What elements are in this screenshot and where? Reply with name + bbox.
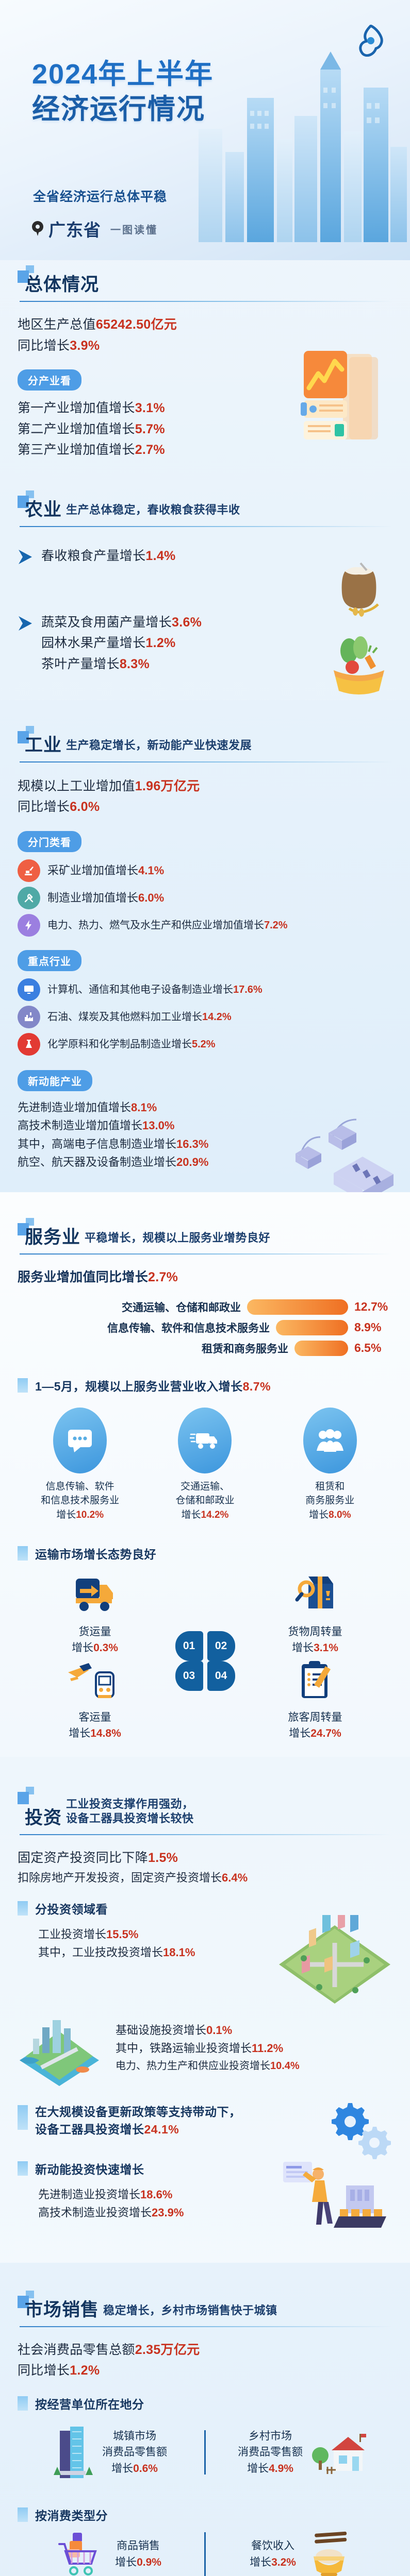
industry-1-value: 3.1% xyxy=(135,401,165,415)
new-energy-1-label: 先进制造业增加值增长 xyxy=(18,1101,131,1114)
agri-line-4: 茶叶产量增长8.3% xyxy=(41,654,202,675)
industry-header: 工业 生产稳定增长，新动能产业快速发展 xyxy=(18,736,392,762)
retail-type-goods: 商品销售 增长0.9% xyxy=(18,2529,198,2576)
retail-catering-text: 餐饮收入 增长3.2% xyxy=(250,2538,296,2570)
city-block-illustration xyxy=(273,1915,397,2015)
vegetable-basket-icon xyxy=(325,628,392,698)
investment-field-4: 其中，铁路运输业投资增长11.2% xyxy=(116,2039,392,2058)
transport-2-label: 货物周转量 增长3.1% xyxy=(238,1624,392,1656)
industry-cat-3-text: 电力、热力、燃气及水生产和供应业增加值增长7.2% xyxy=(47,917,288,934)
square-marker-icon xyxy=(18,1546,28,1561)
services-section: 服务业 平稳增长，规模以上服务业增势良好 服务业增加值同比增长2.7% 交通运输… xyxy=(0,1192,410,1757)
vertical-divider xyxy=(204,2532,206,2576)
retail-urban-sub: 消费品零售额 xyxy=(102,2446,167,2458)
chat-bubble-icon xyxy=(53,1408,107,1473)
parcel-icon xyxy=(287,1571,343,1619)
gdp-growth-label: 同比增长 xyxy=(18,338,70,353)
transport-4-value: 24.7% xyxy=(310,1727,341,1739)
investment-excl-line: 扣除房地产开发投资，固定资产投资增长6.4% xyxy=(18,1869,392,1887)
monitor-icon xyxy=(18,978,40,1001)
office-tower-icon xyxy=(48,2421,95,2483)
section-rule xyxy=(20,2326,392,2327)
industry-value-line: 规模以上工业增加值1.96万亿元 xyxy=(18,776,392,797)
investment-title: 投资 xyxy=(25,1809,62,1827)
investment-new-2-value: 23.9% xyxy=(152,2206,184,2219)
industry-category-row-2: 制造业增加值增长6.0% xyxy=(18,887,392,909)
investment-field-1-value: 15.5% xyxy=(106,1928,138,1941)
investment-header: 投资 工业投资支撑作用强劲， 设备工器具投资增长较快 xyxy=(18,1797,392,1835)
retail-catering-growth-label: 增长 xyxy=(250,2556,271,2568)
investment-excl-label: 扣除房地产开发投资，固定资产投资增长 xyxy=(18,1871,222,1884)
transport-heading: 运输市场增长态势良好 xyxy=(18,1545,392,1562)
bar-row-3: 租赁和商务服务业 6.5% xyxy=(18,1341,392,1356)
retail-catering-name: 餐饮收入 xyxy=(251,2540,294,2552)
investment-field-2-label: 其中，工业技改投资增长 xyxy=(38,1946,163,1959)
industry-cat-3-value: 7.2% xyxy=(264,920,288,931)
investment-field-1-label: 工业投资增长 xyxy=(38,1928,106,1941)
bolt-icon xyxy=(18,914,40,937)
services-trio-3-label: 租赁和商务服务业 增长8.0% xyxy=(276,1480,384,1522)
pill-key-industries: 重点行业 xyxy=(18,950,81,971)
square-marker-icon xyxy=(18,2161,28,2176)
key-industry-row-2: 石油、煤炭及其他燃料加工业增长14.2% xyxy=(18,1006,392,1028)
agriculture-desc: 生产总体稳定，春收粮食获得丰收 xyxy=(66,503,240,518)
transport-4-name: 旅客周转量 xyxy=(288,1711,342,1723)
investment-field-2-value: 18.1% xyxy=(163,1946,195,1959)
investment-equip-line2-value: 24.1% xyxy=(144,2123,179,2136)
key-industry-2-label: 石油、煤炭及其他燃料加工业增长 xyxy=(47,1011,202,1023)
key-industry-2-value: 14.2% xyxy=(202,1011,232,1023)
hero-tagline: 一图读懂 xyxy=(110,222,158,236)
industry-cat-1-text: 采矿业增加值增长4.1% xyxy=(47,861,164,880)
badge-02: 02 xyxy=(207,1631,235,1661)
retail-urban-growth-label: 增长 xyxy=(111,2463,133,2475)
infographic-page: 2024年上半年 经济运行情况 全省经济运行总体平稳 广东省 一图读懂 总体情况… xyxy=(0,0,410,2576)
investment-desc: 工业投资支撑作用强劲， 设备工器具投资增长较快 xyxy=(66,1797,194,1827)
investment-equip-line1: 在大规模设备更新政策等支持带动下， xyxy=(35,2105,241,2119)
investment-fixed-line: 固定资产投资同比下降1.5% xyxy=(18,1848,392,1869)
investment-fixed-label: 固定资产投资同比下降 xyxy=(18,1851,148,1865)
retail-rural-value: 4.9% xyxy=(269,2463,293,2475)
infrastructure-island-icon xyxy=(10,2016,108,2096)
key-industry-row-1: 计算机、通信和其他电子设备制造业增长17.6% xyxy=(18,978,392,1001)
investment-equip-line2-label: 设备工器具投资增长 xyxy=(35,2123,144,2136)
agri-2-label: 蔬菜及食用菌产量增长 xyxy=(41,615,172,630)
agri-3-value: 1.2% xyxy=(145,636,175,650)
industry-growth-label: 同比增长 xyxy=(18,800,70,814)
investment-field-3-value: 0.1% xyxy=(206,2024,232,2037)
investment-field-3-label: 基础设施投资增长 xyxy=(116,2024,206,2037)
refinery-icon xyxy=(18,1006,40,1028)
industry-2-label: 第二产业增加值增长 xyxy=(18,422,135,436)
pill-by-industry: 分产业看 xyxy=(18,369,81,391)
retail-rural-growth-label: 增长 xyxy=(247,2463,269,2475)
key-industry-2-text: 石油、煤炭及其他燃料加工业增长14.2% xyxy=(47,1009,232,1025)
investment-section: 投资 工业投资支撑作用强劲， 设备工器具投资增长较快 固定资产投资同比下降1.5… xyxy=(0,1757,410,2263)
retail-location-heading-text: 按经营单位所在地分 xyxy=(35,2395,144,2412)
services-value-label: 服务业增加值同比增长 xyxy=(18,1270,148,1284)
key-industry-3-value: 5.2% xyxy=(192,1039,216,1050)
hero-title-line2: 经济运行情况 xyxy=(32,92,214,127)
retail-location-urban: 城镇市场 消费品零售额 增长0.6% xyxy=(18,2421,198,2483)
industry-cat-1-value: 4.1% xyxy=(138,864,164,877)
transport-cell-1: 货运量 增长0.3% xyxy=(18,1571,172,1656)
industry-2-value: 5.7% xyxy=(135,422,165,436)
investment-field-heading: 分投资领域看 xyxy=(18,1900,392,1917)
overall-header: 总体情况 xyxy=(18,276,392,302)
services-trio: 信息传输、软件和信息技术服务业 增长10.2% 交通运输、仓储和邮政业 增长14… xyxy=(18,1408,392,1522)
agri-line-1: 春收粮食产量增长1.4% xyxy=(41,546,176,567)
gdp-growth-value: 3.9% xyxy=(70,338,100,353)
transport-4-label: 旅客周转量 增长24.7% xyxy=(238,1710,392,1741)
services-desc: 平稳增长，规模以上服务业增势良好 xyxy=(85,1231,270,1246)
investment-desc-line1: 工业投资支撑作用强劲， xyxy=(66,1798,194,1810)
transport-cell-3: 客运量 增长14.8% xyxy=(18,1657,172,1741)
excavator-icon xyxy=(18,859,40,882)
transport-1-name: 货运量 xyxy=(79,1626,111,1638)
section-rule xyxy=(20,761,392,762)
transport-1-growth-label: 增长 xyxy=(72,1642,93,1654)
services-trio-3-value: 8.0% xyxy=(329,1510,351,1520)
new-energy-3-label: 其中，高端电子信息制造业增长 xyxy=(18,1138,176,1150)
square-marker-icon xyxy=(18,1378,28,1393)
beaker-icon xyxy=(18,1033,40,1056)
retail-growth-label: 同比增长 xyxy=(18,2363,70,2378)
square-marker-icon xyxy=(18,1901,28,1916)
transport-1-label: 货运量 增长0.3% xyxy=(18,1624,172,1656)
investment-new-1-value: 18.6% xyxy=(140,2188,172,2201)
retail-rural-text: 乡村市场 消费品零售额 增长4.9% xyxy=(238,2428,303,2477)
services-trio-2-growth-label: 增长 xyxy=(182,1510,201,1520)
services-trio-3-growth-label: 增长 xyxy=(309,1510,329,1520)
retail-type-heading-text: 按消费类型分 xyxy=(35,2506,108,2523)
agri-4-label: 茶叶产量增长 xyxy=(41,657,120,671)
transport-cell-2: 货物周转量 增长3.1% xyxy=(238,1571,392,1656)
page-title: 2024年上半年 经济运行情况 xyxy=(32,57,214,127)
new-energy-3-value: 16.3% xyxy=(176,1138,208,1150)
clipboard-icon xyxy=(289,1657,341,1704)
new-energy-2-value: 13.0% xyxy=(142,1119,174,1132)
retail-goods-name: 商品销售 xyxy=(117,2540,160,2552)
badge-03: 03 xyxy=(175,1661,203,1691)
industry-cat-2-label: 制造业增加值增长 xyxy=(47,891,138,904)
square-marker-icon xyxy=(18,2396,28,2411)
services-revenue-note: 1—5月，规模以上服务业营业收入增长8.7% xyxy=(18,1377,392,1394)
retail-goods-growth-label: 增长 xyxy=(115,2556,137,2568)
key-industry-3-label: 化学原料和化学制品制造业增长 xyxy=(47,1039,192,1050)
investment-field-5-value: 10.4% xyxy=(270,2060,300,2072)
investment-new-2-label: 高技术制造业投资增长 xyxy=(38,2206,152,2219)
retail-type-duo: 商品销售 增长0.9% 餐饮收入 增长3.2% xyxy=(18,2529,392,2576)
agriculture-title: 农业 xyxy=(25,501,62,519)
services-trio-item-1: 信息传输、软件和信息技术服务业 增长10.2% xyxy=(26,1408,134,1522)
industry-growth-value: 6.0% xyxy=(70,800,100,814)
investment-new-heading-text: 新动能投资快速增长 xyxy=(35,2160,144,2177)
industry-category-row-3: 电力、热力、燃气及水生产和供应业增加值增长7.2% xyxy=(18,914,392,937)
services-header: 服务业 平稳增长，规模以上服务业增势良好 xyxy=(18,1228,392,1255)
retail-location-heading: 按经营单位所在地分 xyxy=(18,2395,392,2412)
gdp-value: 65242.50亿元 xyxy=(96,317,177,332)
investment-field-4-label: 其中，铁路运输业投资增长 xyxy=(116,2042,252,2055)
hero-title-line1: 2024年上半年 xyxy=(32,57,214,92)
services-trio-1-value: 10.2% xyxy=(76,1510,104,1520)
bar-2 xyxy=(276,1320,348,1335)
pill-by-category: 分门类看 xyxy=(18,831,81,852)
grain-sack-icon xyxy=(331,551,387,620)
retail-urban-text: 城镇市场 消费品零售额 增长0.6% xyxy=(102,2428,167,2477)
bar-row-1: 交通运输、仓储和邮政业 12.7% xyxy=(18,1299,392,1315)
transport-quad: 货运量 增长0.3% 货物周转量 增长3.1% xyxy=(18,1571,392,1741)
hero-subtitle: 全省经济运行总体平稳 xyxy=(33,187,167,205)
province-row: 广东省 一图读懂 xyxy=(32,216,158,241)
house-icon xyxy=(310,2427,367,2478)
investment-equipment-text: 在大规模设备更新政策等支持带动下， 设备工器具投资增长24.1% xyxy=(35,2102,241,2137)
key-industry-1-text: 计算机、通信和其他电子设备制造业增长17.6% xyxy=(47,981,263,998)
bar-1-value: 12.7% xyxy=(354,1300,392,1314)
robot-arm-illustration xyxy=(284,1096,398,1207)
delivery-truck-icon xyxy=(67,1571,123,1619)
services-trio-item-2: 交通运输、仓储和邮政业 增长14.2% xyxy=(151,1408,259,1522)
agri-4-value: 8.3% xyxy=(120,657,150,671)
investment-field-heading-text: 分投资领域看 xyxy=(35,1900,108,1917)
retail-goods-value: 0.9% xyxy=(137,2556,161,2568)
key-industry-3-text: 化学原料和化学制品制造业增长5.2% xyxy=(47,1036,216,1053)
transport-2-name: 货物周转量 xyxy=(288,1626,342,1638)
vertical-divider xyxy=(204,2430,206,2475)
retail-growth-value: 1.2% xyxy=(70,2363,100,2378)
shopping-cart-icon xyxy=(54,2529,108,2576)
square-marker-icon xyxy=(18,2105,28,2130)
retail-total-label: 社会消费品零售总额 xyxy=(18,2343,135,2357)
investment-desc-line2: 设备工器具投资增长较快 xyxy=(66,1812,194,1825)
services-revenue-text: 1—5月，规模以上服务业营业收入增长8.7% xyxy=(35,1377,271,1394)
retail-urban-name: 城镇市场 xyxy=(113,2430,156,2442)
services-value-line: 服务业增加值同比增长2.7% xyxy=(18,1267,392,1288)
overall-section: 总体情况 地区生产总值65242.50亿元 同比增长3.9% 分产业看 第一产业… xyxy=(0,276,410,461)
retail-header: 市场销售 稳定增长，乡村市场销售快于城镇 xyxy=(18,2301,392,2327)
overall-title: 总体情况 xyxy=(25,276,99,294)
section-rule xyxy=(20,1834,392,1835)
badge-01: 01 xyxy=(175,1631,203,1661)
investment-field-5: 电力、热力生产和供应业投资增长10.4% xyxy=(116,2058,392,2074)
retail-type-catering: 餐饮收入 增长3.2% xyxy=(212,2530,392,2576)
industry-cat-1-label: 采矿业增加值增长 xyxy=(47,864,138,877)
industry-cat-2-value: 6.0% xyxy=(138,891,164,904)
new-energy-1-value: 8.1% xyxy=(131,1101,157,1114)
services-trio-2-label: 交通运输、仓储和邮政业 增长14.2% xyxy=(151,1480,259,1522)
worker-factory-illustration xyxy=(274,2159,392,2254)
pill-new-energy-industry: 新动能产业 xyxy=(18,1070,92,1091)
transport-3-name: 客运量 xyxy=(79,1711,111,1723)
services-bar-chart: 交通运输、仓储和邮政业 12.7% 信息传输、软件和信息技术服务业 8.9% 租… xyxy=(18,1299,392,1356)
gdp-line: 地区生产总值65242.50亿元 xyxy=(18,314,392,335)
industry-cat-2-text: 制造业增加值增长6.0% xyxy=(47,889,164,907)
bar-3-label: 租赁和商务服务业 xyxy=(202,1341,288,1356)
section-rule xyxy=(20,1253,392,1255)
key-industry-1-value: 17.6% xyxy=(233,984,263,995)
investment-new-1-label: 先进制造业投资增长 xyxy=(38,2188,140,2201)
bar-row-2: 信息传输、软件和信息技术服务业 8.9% xyxy=(18,1320,392,1335)
industry-value: 1.96万亿元 xyxy=(135,779,200,793)
location-pin-icon xyxy=(32,221,43,236)
industry-1-label: 第一产业增加值增长 xyxy=(18,401,135,415)
agri-2-value: 3.6% xyxy=(172,615,202,630)
industry-value-label: 规模以上工业增加值 xyxy=(18,779,135,793)
retail-title: 市场销售 xyxy=(25,2301,99,2319)
wrench-icon xyxy=(18,887,40,909)
new-energy-2-label: 高技术制造业增加值增长 xyxy=(18,1119,142,1132)
retail-urban-value: 0.6% xyxy=(133,2463,158,2475)
investment-equipment-block: 在大规模设备更新政策等支持带动下， 设备工器具投资增长24.1% xyxy=(18,2102,392,2137)
industry-desc: 生产稳定增长，新动能产业快速发展 xyxy=(66,738,252,754)
transport-4-growth-label: 增长 xyxy=(289,1727,310,1739)
retail-growth-line: 同比增长1.2% xyxy=(18,2360,392,2381)
industry-category-row-1: 采矿业增加值增长4.1% xyxy=(18,859,392,882)
services-revenue-label: 1—5月，规模以上服务业营业收入增长 xyxy=(35,1380,243,1393)
retail-section: 市场销售 稳定增长，乡村市场销售快于城镇 社会消费品零售总额2.35万亿元 同比… xyxy=(0,2263,410,2576)
transport-3-label: 客运量 增长14.8% xyxy=(18,1710,172,1741)
services-trio-1-growth-label: 增长 xyxy=(56,1510,76,1520)
agri-line-3: 园林水果产量增长1.2% xyxy=(41,633,202,654)
agriculture-header: 农业 生产总体稳定，春收粮食获得丰收 xyxy=(18,501,392,527)
rice-bowl-icon xyxy=(303,2530,355,2576)
truck-icon xyxy=(178,1408,232,1473)
agri-1-label: 春收粮食产量增长 xyxy=(41,549,145,563)
agri-1-value: 1.4% xyxy=(145,549,175,563)
retail-catering-value: 3.2% xyxy=(271,2556,296,2568)
retail-location-duo: 城镇市场 消费品零售额 增长0.6% 乡村市场 消费品零售额 增长4.9% xyxy=(18,2421,392,2483)
agri-3-label: 园林水果产量增长 xyxy=(41,636,145,650)
bar-1 xyxy=(247,1299,348,1315)
bar-3 xyxy=(294,1341,348,1356)
transport-cell-4: 旅客周转量 增长24.7% xyxy=(238,1657,392,1741)
retail-rural-sub: 消费品零售额 xyxy=(238,2446,303,2458)
services-trio-item-3: 租赁和商务服务业 增长8.0% xyxy=(276,1408,384,1522)
gears-icon xyxy=(325,2098,392,2162)
badge-04: 04 xyxy=(207,1661,235,1691)
bar-2-value: 8.9% xyxy=(354,1320,392,1334)
investment-fixed-value: 1.5% xyxy=(148,1851,178,1865)
bar-1-label: 交通运输、仓储和邮政业 xyxy=(122,1299,241,1315)
bar-3-value: 6.5% xyxy=(354,1341,392,1355)
investment-field-3: 基础设施投资增长0.1% xyxy=(116,2021,392,2040)
transport-2-value: 3.1% xyxy=(314,1642,338,1654)
retail-location-rural: 乡村市场 消费品零售额 增长4.9% xyxy=(212,2427,392,2478)
services-trio-1-label: 信息传输、软件和信息技术服务业 增长10.2% xyxy=(26,1480,134,1522)
key-industry-1-label: 计算机、通信和其他电子设备制造业增长 xyxy=(47,984,233,995)
province-name: 广东省 xyxy=(48,216,101,241)
square-marker-icon xyxy=(18,2507,28,2522)
section-rule xyxy=(20,301,392,302)
industry-title: 工业 xyxy=(25,736,62,754)
services-trio-2-value: 14.2% xyxy=(201,1510,229,1520)
retail-total-value: 2.35万亿元 xyxy=(135,2343,200,2357)
services-title: 服务业 xyxy=(25,1228,80,1246)
industry-cat-3-label: 电力、热力、燃气及水生产和供应业增加值增长 xyxy=(47,920,264,931)
transport-1-value: 0.3% xyxy=(93,1642,118,1654)
services-revenue-value: 8.7% xyxy=(243,1380,271,1393)
transport-3-growth-label: 增长 xyxy=(69,1727,90,1739)
industry-section: 工业 生产稳定增长，新动能产业快速发展 规模以上工业增加值1.96万亿元 同比增… xyxy=(0,700,410,1193)
services-value: 2.7% xyxy=(148,1270,178,1284)
investment-field-5-label: 电力、热力生产和供应业投资增长 xyxy=(116,2060,270,2072)
transport-3-value: 14.8% xyxy=(90,1727,121,1739)
chevron-right-icon xyxy=(18,549,33,568)
statistics-bureau-logo xyxy=(356,25,385,57)
key-industry-row-3: 化学原料和化学制品制造业增长5.2% xyxy=(18,1033,392,1056)
bar-2-label: 信息传输、软件和信息技术服务业 xyxy=(107,1320,270,1335)
retail-type-heading: 按消费类型分 xyxy=(18,2506,392,2523)
retail-goods-text: 商品销售 增长0.9% xyxy=(115,2538,161,2570)
section-rule xyxy=(20,526,392,527)
retail-total-line: 社会消费品零售总额2.35万亿元 xyxy=(18,2340,392,2361)
transport-badge-group: 01 02 03 04 xyxy=(175,1631,235,1691)
people-icon xyxy=(303,1408,357,1473)
new-energy-4-value: 20.9% xyxy=(176,1156,208,1168)
industry-3-value: 2.7% xyxy=(135,443,165,457)
report-chart-illustration xyxy=(291,349,395,454)
industry-3-label: 第三产业增加值增长 xyxy=(18,443,135,457)
agriculture-section: 农业 生产总体稳定，春收粮食获得丰收 春收粮食产量增长1.4% xyxy=(0,501,410,695)
retail-desc: 稳定增长，乡村市场销售快于城镇 xyxy=(103,2303,277,2319)
retail-rural-name: 乡村市场 xyxy=(249,2430,292,2442)
agri-line-2: 蔬菜及食用菌产量增长3.6% xyxy=(41,612,202,633)
investment-field-4-value: 11.2% xyxy=(252,2042,283,2055)
new-energy-4-label: 航空、航天器及设备制造业增长 xyxy=(18,1156,176,1168)
transport-heading-text: 运输市场增长态势良好 xyxy=(35,1545,156,1562)
industry-growth-line: 同比增长6.0% xyxy=(18,796,392,818)
plane-train-icon xyxy=(64,1657,126,1704)
transport-2-growth-label: 增长 xyxy=(292,1642,314,1654)
gdp-label: 地区生产总值 xyxy=(18,317,96,332)
hero-section: 2024年上半年 经济运行情况 全省经济运行总体平稳 广东省 一图读懂 xyxy=(0,0,410,260)
chevron-right-icon xyxy=(18,615,33,634)
investment-excl-value: 6.4% xyxy=(222,1871,248,1884)
